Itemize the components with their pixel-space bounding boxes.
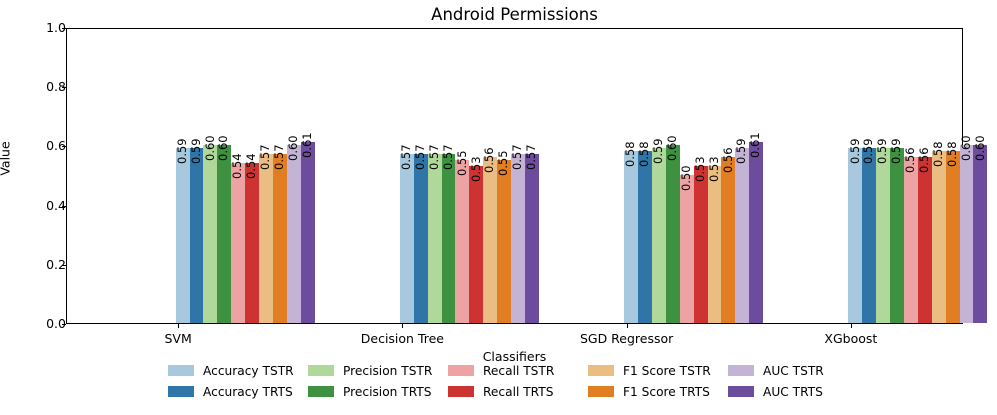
bar-value-label: 0.56 (723, 148, 734, 174)
bar-value-label: 0.58 (639, 142, 650, 168)
y-axis-label: Value (0, 141, 13, 175)
bar (497, 160, 511, 323)
legend-color-swatch (588, 365, 614, 376)
legend-label: AUC TRTS (763, 385, 823, 399)
chart-legend: Accuracy TSTRAccuracy TRTSPrecision TSTR… (168, 360, 868, 404)
legend-color-swatch (728, 386, 754, 397)
bar-value-label: 0.55 (457, 151, 468, 177)
bar (245, 163, 259, 323)
legend-color-swatch (448, 386, 474, 397)
bar (680, 175, 694, 323)
legend-color-swatch (308, 365, 334, 376)
x-axis-tick-label: XGboost (824, 331, 877, 346)
bar (624, 151, 638, 323)
legend-label: F1 Score TSTR (623, 364, 711, 378)
bar (190, 148, 204, 323)
legend-color-swatch (448, 365, 474, 376)
bar (231, 163, 245, 323)
bar-value-label: 0.60 (218, 136, 229, 162)
bar (511, 154, 525, 323)
bar-value-label: 0.59 (736, 139, 747, 165)
y-axis-tick-label: 1.0 (30, 22, 66, 34)
legend-item: Precision TRTS (308, 381, 448, 402)
bar (960, 145, 974, 323)
bar (428, 154, 442, 323)
chart-figure: Android Permissions Value 0.00.20.40.60.… (0, 0, 997, 415)
legend-item: Precision TSTR (308, 360, 448, 381)
x-axis-tick-label: SGD Regressor (580, 331, 673, 346)
bar-value-label: 0.57 (512, 145, 523, 171)
bar-value-label: 0.59 (863, 139, 874, 165)
plot-area: 0.590.590.600.600.540.540.570.570.600.61… (66, 28, 963, 324)
legend-item: Accuracy TRTS (168, 381, 308, 402)
bar (400, 154, 414, 323)
bar (287, 145, 301, 323)
bar (862, 148, 876, 323)
y-axis-tick-label: 0.2 (30, 259, 66, 271)
bar (455, 160, 469, 323)
bar (301, 142, 315, 323)
bar (708, 166, 722, 323)
bar (973, 145, 987, 323)
bar-value-label: 0.57 (415, 145, 426, 171)
bar (694, 166, 708, 323)
bar-value-label: 0.59 (191, 139, 202, 165)
bar (273, 154, 287, 323)
bar-value-label: 0.57 (526, 145, 537, 171)
bar-value-label: 0.59 (653, 139, 664, 165)
x-axis-tick-mark (178, 324, 179, 328)
bar-value-label: 0.55 (498, 151, 509, 177)
bar (259, 154, 273, 323)
bar-value-label: 0.60 (205, 136, 216, 162)
legend-label: AUC TSTR (763, 364, 824, 378)
y-axis-tick-label: 0.0 (30, 318, 66, 330)
bar-value-label: 0.59 (177, 139, 188, 165)
y-axis-tick-label: 0.8 (30, 81, 66, 93)
bar-value-label: 0.56 (919, 148, 930, 174)
bar-value-label: 0.60 (975, 136, 986, 162)
bar (848, 148, 862, 323)
bar-value-label: 0.56 (484, 148, 495, 174)
bar (749, 142, 763, 323)
bar (721, 157, 735, 323)
bar-value-label: 0.57 (274, 145, 285, 171)
bar-value-label: 0.60 (961, 136, 972, 162)
bar (735, 148, 749, 323)
legend-label: Precision TRTS (343, 385, 431, 399)
bar-value-label: 0.61 (302, 133, 313, 159)
bar-value-label: 0.53 (471, 157, 482, 183)
bar-value-label: 0.59 (877, 139, 888, 165)
legend-label: Recall TRTS (483, 385, 553, 399)
bar (652, 148, 666, 323)
bar-value-label: 0.59 (891, 139, 902, 165)
bar-value-label: 0.56 (905, 148, 916, 174)
x-axis-tick-mark (402, 324, 403, 328)
legend-color-swatch (308, 386, 334, 397)
bar-value-label: 0.59 (850, 139, 861, 165)
legend-item: F1 Score TSTR (588, 360, 728, 381)
bar-value-label: 0.54 (246, 154, 257, 180)
legend-item: Accuracy TSTR (168, 360, 308, 381)
bar (203, 145, 217, 323)
x-axis-tick-mark (627, 324, 628, 328)
legend-color-swatch (168, 386, 194, 397)
bar-value-label: 0.54 (232, 154, 243, 180)
bar-value-label: 0.61 (750, 133, 761, 159)
legend-label: Accuracy TSTR (203, 364, 294, 378)
bar (483, 157, 497, 323)
bar-value-label: 0.53 (709, 157, 720, 183)
bar (525, 154, 539, 323)
bar-value-label: 0.58 (947, 142, 958, 168)
bar (469, 166, 483, 323)
legend-label: Precision TSTR (343, 364, 432, 378)
bar (666, 145, 680, 323)
bar (414, 154, 428, 323)
bar-value-label: 0.57 (401, 145, 412, 171)
bar-value-label: 0.57 (429, 145, 440, 171)
x-axis-tick-label: SVM (164, 331, 191, 346)
legend-color-swatch (168, 365, 194, 376)
y-axis-tick-mark (62, 324, 66, 325)
bar-value-label: 0.58 (625, 142, 636, 168)
legend-item: Recall TRTS (448, 381, 588, 402)
x-axis-tick-mark (851, 324, 852, 328)
bar (442, 154, 456, 323)
legend-item: AUC TSTR (728, 360, 868, 381)
bar-value-label: 0.60 (667, 136, 678, 162)
legend-label: Accuracy TRTS (203, 385, 293, 399)
bar (176, 148, 190, 323)
bar-value-label: 0.58 (933, 142, 944, 168)
legend-item: Recall TSTR (448, 360, 588, 381)
bar (638, 151, 652, 323)
bar (918, 157, 932, 323)
legend-item: F1 Score TRTS (588, 381, 728, 402)
legend-item: AUC TRTS (728, 381, 868, 402)
legend-label: F1 Score TRTS (623, 385, 710, 399)
bar (946, 151, 960, 323)
bar-value-label: 0.50 (681, 165, 692, 191)
bar-value-label: 0.53 (695, 157, 706, 183)
bar (890, 148, 904, 323)
y-axis-tick-label: 0.4 (30, 200, 66, 212)
bar (904, 157, 918, 323)
y-axis: Value 0.00.20.40.60.81.0 (0, 0, 66, 415)
legend-label: Recall TSTR (483, 364, 554, 378)
x-axis-tick-label: Decision Tree (361, 331, 444, 346)
bar (932, 151, 946, 323)
legend-color-swatch (588, 386, 614, 397)
bar-value-label: 0.60 (288, 136, 299, 162)
bar-value-label: 0.57 (260, 145, 271, 171)
chart-title: Android Permissions (66, 5, 963, 25)
bar-value-label: 0.57 (443, 145, 454, 171)
y-axis-tick-label: 0.6 (30, 140, 66, 152)
legend-color-swatch (728, 365, 754, 376)
bar (876, 148, 890, 323)
